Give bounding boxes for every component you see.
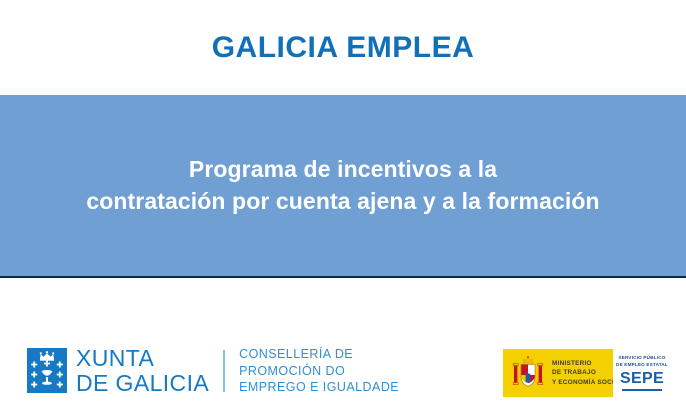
ministerio-sepe-logo: MINISTERIO DE TRABAJO Y ECONOMÍA SOCIAL … xyxy=(503,349,671,397)
sepe-subtitle: SERVICIO PÚBLICO DE EMPLEO ESTATAL xyxy=(616,355,668,368)
sepe-underline xyxy=(622,389,662,391)
banner-line-1: Programa de incentivos a la xyxy=(23,154,663,186)
conselleria-text: CONSELLERÍA DE PROMOCIÓN DO EMPREGO E IG… xyxy=(239,346,399,396)
page-title: GALICIA EMPLEA xyxy=(212,31,475,65)
title-zone: GALICIA EMPLEA xyxy=(0,0,686,95)
xunta-de-galicia-logo: XUNTA DE GALICIA CONSELLERÍA DE PROMOCIÓ… xyxy=(27,346,399,396)
sepe-subtitle-line-2: DE EMPLEO ESTATAL xyxy=(616,362,668,369)
spain-coat-of-arms-icon xyxy=(512,356,544,390)
program-banner-text: Programa de incentivos a la contratación… xyxy=(23,154,663,217)
xunta-wordmark: XUNTA DE GALICIA xyxy=(76,346,209,395)
sepe-wordmark: SEPE xyxy=(620,371,664,387)
xunta-wordmark-line-1: XUNTA xyxy=(76,346,209,370)
program-banner: Programa de incentivos a la contratación… xyxy=(0,95,686,278)
xunta-wordmark-line-2: DE GALICIA xyxy=(76,371,209,395)
banner-line-2: contratación por cuenta ajena y a la for… xyxy=(23,186,663,218)
conselleria-line-3: EMPREGO E IGUALDADE xyxy=(239,379,399,396)
footer: XUNTA DE GALICIA CONSELLERÍA DE PROMOCIÓ… xyxy=(0,280,686,410)
galicia-coat-of-arms-icon xyxy=(27,348,67,393)
logo-divider xyxy=(223,350,225,392)
conselleria-line-1: CONSELLERÍA DE xyxy=(239,346,399,363)
conselleria-line-2: PROMOCIÓN DO xyxy=(239,363,399,380)
sepe-logo: SERVICIO PÚBLICO DE EMPLEO ESTATAL SEPE xyxy=(613,349,671,397)
